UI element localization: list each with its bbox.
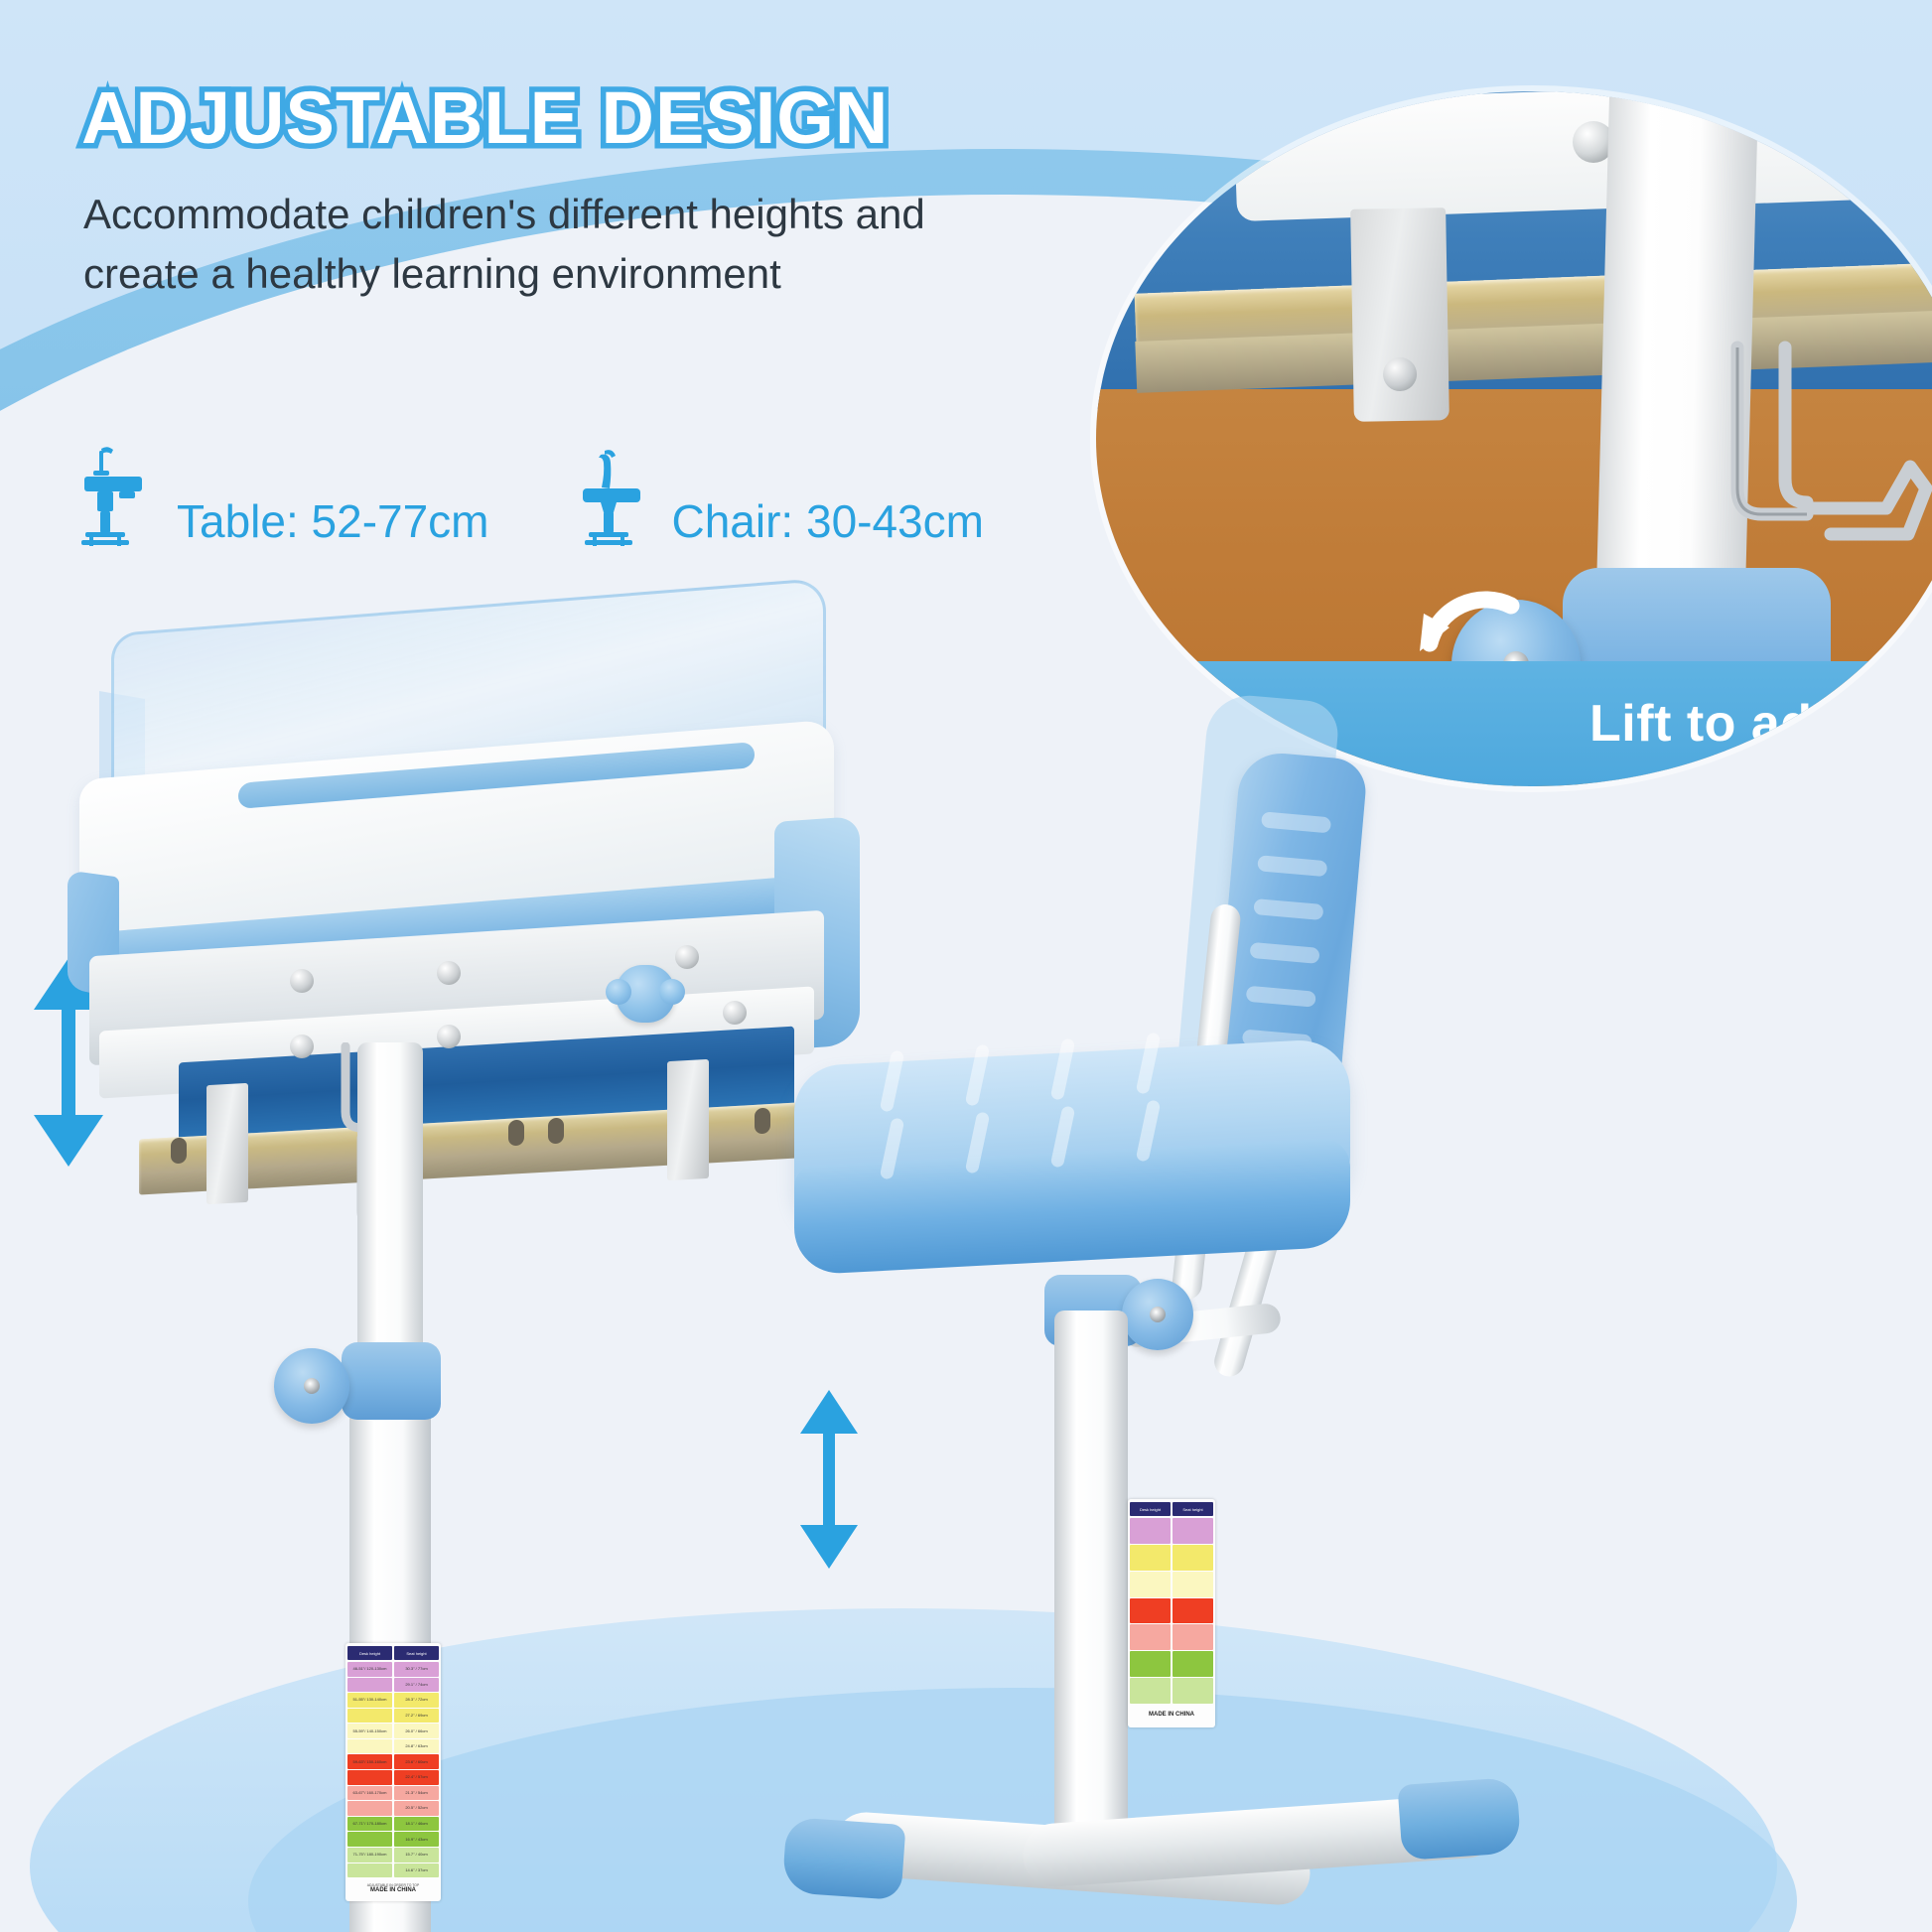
sticker-cell: 16.9" / 43cm: [394, 1832, 439, 1847]
sticker-cell: 51-55"/ 130-140cm: [347, 1693, 392, 1708]
sticker-cell: 18.1" / 46cm: [394, 1817, 439, 1832]
sticker-header-right: Seat height: [394, 1646, 439, 1660]
desk-height-sticker: Desk height Seat height 46-51"/ 120-130c…: [345, 1643, 441, 1901]
sticker-row: 51-55"/ 130-140cm 28.3" / 72cm: [347, 1693, 439, 1708]
sticker-cell: 71-75"/ 180-190cm: [347, 1848, 392, 1863]
desk-screw: [675, 945, 699, 969]
sticker-cell: [347, 1801, 392, 1816]
sticker-cell: [1130, 1651, 1171, 1677]
sticker-cell: [347, 1832, 392, 1847]
children-study-desk: Desk height Seat height 46-51"/ 120-130c…: [60, 576, 913, 1886]
desk-icon: [79, 445, 157, 552]
page-title: ADJUSTABLE DESIGN: [81, 75, 889, 160]
rail-hole: [508, 1120, 524, 1147]
sticker-row: [1130, 1678, 1213, 1704]
sticker-header: Desk height Seat height: [347, 1646, 439, 1660]
sticker-cell: [1173, 1598, 1213, 1624]
sticker-header: Desk height Seat height: [1130, 1502, 1213, 1516]
sticker-rows: 46-51"/ 120-130cm 30.3" / 77cm 29.1" / 7…: [347, 1660, 439, 1877]
chair-height-sticker: Desk height Seat height: [1128, 1499, 1215, 1727]
chair-column: [1054, 1311, 1128, 1866]
sticker-cell: [1173, 1572, 1213, 1597]
desk-screw: [290, 969, 314, 993]
adjustment-knob-closeup-inset: Lift to adjust: [1096, 91, 1932, 786]
backrest-slot: [1261, 811, 1331, 833]
infographic-canvas: ADJUSTABLE DESIGN Accommodate children's…: [0, 0, 1932, 1932]
rail-hole: [171, 1138, 187, 1165]
spec-row: Table: 52-77cm Chair: 30-43cm: [79, 445, 984, 552]
inset-bracket-screw: [1383, 357, 1418, 392]
sticker-cell: [347, 1770, 392, 1785]
sticker-row: 63-67"/ 160-170cm 21.3" / 54cm: [347, 1786, 439, 1801]
sticker-row: [1130, 1572, 1213, 1597]
sticker-cell: [1173, 1518, 1213, 1544]
sticker-cell: 26.0" / 66cm: [394, 1724, 439, 1738]
sticker-row: [1130, 1598, 1213, 1624]
sticker-cell: [1173, 1545, 1213, 1571]
sticker-row: 24.8" / 63cm: [347, 1739, 439, 1754]
inset-metal-bracket: [1350, 207, 1449, 422]
sticker-cell: 27.2" / 69cm: [394, 1709, 439, 1724]
sticker-row: [1130, 1624, 1213, 1650]
sticker-header-right: Seat height: [1173, 1502, 1213, 1516]
sticker-rows: [1130, 1516, 1213, 1704]
desk-screw: [290, 1035, 314, 1058]
desk-height-collar: [342, 1342, 441, 1420]
sticker-footer: ADJUSTABLE IN ORDER TO TOP MADE IN CHINA: [347, 1877, 439, 1899]
sticker-cell: [1130, 1624, 1171, 1650]
sticker-cell: 23.6" / 60cm: [394, 1754, 439, 1769]
backrest-slot: [1253, 898, 1323, 920]
sticker-cell: 28.3" / 72cm: [394, 1693, 439, 1708]
sticker-made-in-label: MADE IN CHINA: [1149, 1712, 1194, 1718]
sticker-header-left: Desk height: [1130, 1502, 1171, 1516]
sticker-cell: [1130, 1598, 1171, 1624]
sticker-cell: 24.8" / 63cm: [394, 1739, 439, 1754]
sticker-cell: 21.3" / 54cm: [394, 1786, 439, 1801]
desk-screw: [437, 961, 461, 985]
rail-hole: [548, 1118, 564, 1145]
sticker-cell: [347, 1863, 392, 1878]
inset-wire-hook: [1712, 340, 1932, 677]
sticker-cell: [1130, 1545, 1171, 1571]
sticker-row: 55-59"/ 140-150cm 26.0" / 66cm: [347, 1724, 439, 1738]
sticker-cell: 67-71"/ 170-180cm: [347, 1817, 392, 1832]
sticker-cell: 22.4" / 57cm: [394, 1770, 439, 1785]
sticker-cell: 46-51"/ 120-130cm: [347, 1662, 392, 1677]
sticker-made-in-label: MADE IN CHINA: [370, 1887, 416, 1893]
sticker-row: 71-75"/ 180-190cm 15.7" / 40cm: [347, 1848, 439, 1863]
spec-item-chair: Chair: 30-43cm: [575, 445, 984, 552]
sticker-row: [1130, 1518, 1213, 1544]
sticker-row: 22.4" / 57cm: [347, 1770, 439, 1785]
inset-banner-label: Lift to adjust: [1589, 694, 1906, 754]
subtitle-line-1: Accommodate children's different heights…: [83, 185, 1007, 244]
sticker-row: 46-51"/ 120-130cm 30.3" / 77cm: [347, 1662, 439, 1677]
desk-screw: [723, 1001, 747, 1025]
sticker-row: 14.6" / 37cm: [347, 1863, 439, 1878]
sticker-row: [1130, 1545, 1213, 1571]
rail-hole: [755, 1108, 770, 1135]
sticker-cell: [1173, 1651, 1213, 1677]
desk-rail-bracket: [667, 1059, 709, 1180]
backrest-slot: [1246, 986, 1316, 1008]
sticker-cell: 14.6" / 37cm: [394, 1863, 439, 1878]
page-subtitle: Accommodate children's different heights…: [83, 185, 1007, 303]
sticker-cell: [347, 1709, 392, 1724]
spec-label-chair: Chair: 30-43cm: [672, 494, 984, 552]
sticker-header-left: Desk height: [347, 1646, 392, 1660]
backrest-slot: [1249, 942, 1319, 964]
sticker-row: 29.1" / 74cm: [347, 1678, 439, 1693]
chair-icon: [575, 445, 652, 552]
sticker-cell: 59-63"/ 150-160cm: [347, 1754, 392, 1769]
sticker-footer: MADE IN CHINA: [1130, 1704, 1213, 1725]
sticker-cell: 20.5" / 52cm: [394, 1801, 439, 1816]
sticker-cell: [347, 1678, 392, 1693]
sticker-row: 20.5" / 52cm: [347, 1801, 439, 1816]
spec-label-table: Table: 52-77cm: [177, 494, 489, 552]
sticker-cell: [1130, 1518, 1171, 1544]
sticker-cell: [1130, 1678, 1171, 1704]
children-study-chair: Desk height Seat height: [794, 755, 1529, 1926]
sticker-row: 67-71"/ 170-180cm 18.1" / 46cm: [347, 1817, 439, 1832]
sticker-row: [1130, 1651, 1213, 1677]
backrest-slot: [1257, 855, 1327, 877]
sticker-cell: 30.3" / 77cm: [394, 1662, 439, 1677]
desk-tilt-flower-knob: [616, 965, 675, 1023]
subtitle-line-2: create a healthy learning environment: [83, 244, 1007, 304]
sticker-row: 59-63"/ 150-160cm 23.6" / 60cm: [347, 1754, 439, 1769]
sticker-cell: [1173, 1678, 1213, 1704]
sticker-cell: 15.7" / 40cm: [394, 1848, 439, 1863]
inset-white-panel: [1233, 91, 1872, 221]
sticker-cell: [347, 1739, 392, 1754]
sticker-cell: 55-59"/ 140-150cm: [347, 1724, 392, 1738]
sticker-cell: 29.1" / 74cm: [394, 1678, 439, 1693]
chair-height-adjust-knob[interactable]: [1122, 1279, 1193, 1350]
sticker-cell: [1130, 1572, 1171, 1597]
spec-item-table: Table: 52-77cm: [79, 445, 489, 552]
sticker-row: 16.9" / 43cm: [347, 1832, 439, 1847]
sticker-cell: [1173, 1624, 1213, 1650]
chair-foot-cap-right: [1397, 1777, 1521, 1861]
chair-foot-cap-left: [781, 1817, 905, 1900]
desk-rail-bracket: [207, 1083, 248, 1204]
desk-height-adjust-knob[interactable]: [274, 1348, 349, 1424]
sticker-row: 27.2" / 69cm: [347, 1709, 439, 1724]
sticker-cell: 63-67"/ 160-170cm: [347, 1786, 392, 1801]
